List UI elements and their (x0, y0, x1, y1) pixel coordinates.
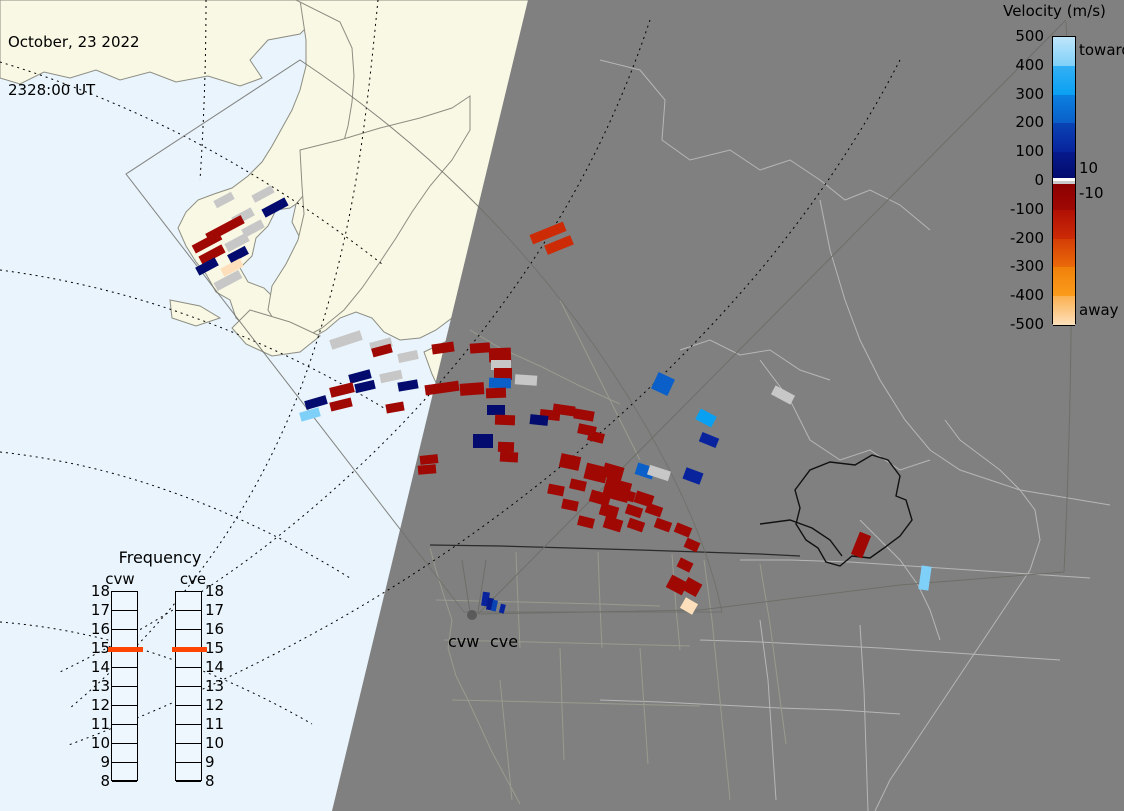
frequency-tick-10: 10 (91, 734, 110, 752)
colorbar-tick-100: 100 (1015, 142, 1044, 160)
colorbar-tick--200: -200 (1010, 229, 1044, 247)
frequency-segment-9 (112, 744, 137, 763)
station-label-cvw: cvw (448, 632, 479, 651)
colorbar-tick-0: 0 (1034, 171, 1044, 189)
velocity-cell (473, 434, 493, 448)
colorbar-zero-hi-label: 10 (1079, 159, 1098, 177)
colorbar-tick--300: -300 (1010, 257, 1044, 275)
colorbar-away-label: away (1079, 301, 1119, 319)
velocity-cell (487, 405, 505, 415)
colorbar-band-1 (1053, 66, 1075, 96)
frequency-segment-11 (112, 706, 137, 725)
colorbar-band-10 (1053, 296, 1075, 326)
colorbar-band-9 (1053, 267, 1075, 297)
colorbar-band-6 (1053, 184, 1075, 211)
frequency-tick-17: 17 (91, 601, 110, 619)
colorbar-gradient[interactable] (1052, 36, 1076, 324)
velocity-cell (495, 415, 515, 426)
colorbar-side-labels: toward10-10away (1079, 0, 1124, 340)
frequency-tick-16: 16 (91, 620, 110, 638)
colorbar-tick-500: 500 (1015, 27, 1044, 45)
frequency-tick-11: 11 (205, 715, 224, 733)
colorbar-tick-labels: 5004003002001000-100-200-300-400-500 (975, 0, 1048, 340)
velocity-colorbar-panel: Velocity (m/s) 5004003002001000-100-200-… (975, 0, 1124, 340)
colorbar-band-8 (1053, 239, 1075, 269)
frequency-tick-14: 14 (205, 658, 224, 676)
frequency-bar-cve[interactable] (175, 591, 202, 781)
colorbar-tick-400: 400 (1015, 56, 1044, 74)
timestamp-title: October, 23 2022 2328:00 UT (8, 2, 140, 130)
frequency-marker-cvw (108, 647, 143, 652)
frequency-segment-8 (176, 763, 201, 782)
frequency-tick-11: 11 (91, 715, 110, 733)
frequency-tick-18: 18 (91, 582, 110, 600)
frequency-tick-12: 12 (205, 696, 224, 714)
frequency-bar-cvw[interactable] (111, 591, 138, 781)
colorbar-tick--400: -400 (1010, 286, 1044, 304)
frequency-segment-10 (112, 725, 137, 744)
velocity-cell (420, 454, 439, 465)
frequency-tick-14: 14 (91, 658, 110, 676)
colorbar-tick--100: -100 (1010, 200, 1044, 218)
frequency-segment-12 (112, 687, 137, 706)
frequency-segment-16 (176, 611, 201, 630)
frequency-segment-12 (176, 687, 201, 706)
frequency-tick-9: 9 (100, 753, 110, 771)
colorbar-tick--500: -500 (1010, 315, 1044, 333)
velocity-cell (486, 388, 506, 399)
velocity-cell (498, 442, 514, 453)
frequency-ticks-right: 18171615141312111098 (205, 591, 231, 783)
frequency-legend-panel: Frequency cvw 18171615141312111098 cve 1… (85, 548, 235, 798)
frequency-tick-13: 13 (205, 677, 224, 695)
frequency-title: Frequency (85, 548, 235, 567)
frequency-ticks-left: 18171615141312111098 (84, 591, 110, 783)
colorbar-zero-lo-label: -10 (1079, 184, 1104, 202)
velocity-cell (460, 382, 485, 396)
colorbar-tick-300: 300 (1015, 85, 1044, 103)
frequency-segment-10 (176, 725, 201, 744)
frequency-segment-11 (176, 706, 201, 725)
velocity-cell (530, 414, 549, 426)
frequency-tick-8: 8 (100, 772, 110, 790)
frequency-column-cve: cve 18171615141312111098 (163, 570, 223, 795)
frequency-segment-9 (176, 744, 201, 763)
frequency-tick-10: 10 (205, 734, 224, 752)
colorbar-band-0 (1053, 37, 1075, 67)
velocity-cell (500, 452, 518, 463)
title-date: October, 23 2022 (8, 34, 140, 50)
frequency-tick-8: 8 (205, 772, 215, 790)
frequency-tick-16: 16 (205, 620, 224, 638)
frequency-segment-17 (176, 592, 201, 611)
colorbar-band-7 (1053, 210, 1075, 240)
title-time: 2328:00 UT (8, 82, 140, 98)
colorbar-tick-200: 200 (1015, 113, 1044, 131)
station-label-cve: cve (490, 632, 518, 651)
frequency-tick-13: 13 (91, 677, 110, 695)
frequency-segment-16 (112, 611, 137, 630)
frequency-segment-13 (112, 668, 137, 687)
velocity-cell (470, 342, 491, 353)
frequency-column-cvw: cvw 18171615141312111098 (90, 570, 150, 795)
frequency-segment-17 (112, 592, 137, 611)
frequency-tick-18: 18 (205, 582, 224, 600)
colorbar-band-3 (1053, 123, 1075, 153)
colorbar-band-4 (1053, 152, 1075, 179)
superdarn-fan-plot: cvw cve October, 23 2022 2328:00 UT Velo… (0, 0, 1124, 811)
velocity-cell (418, 464, 437, 475)
frequency-tick-9: 9 (205, 753, 215, 771)
frequency-segment-8 (112, 763, 137, 782)
colorbar-band-2 (1053, 95, 1075, 125)
frequency-tick-12: 12 (91, 696, 110, 714)
ground-scatter-cell (515, 374, 538, 386)
frequency-marker-cve (172, 647, 207, 652)
frequency-tick-17: 17 (205, 601, 224, 619)
colorbar-toward-label: toward (1079, 41, 1124, 59)
frequency-segment-13 (176, 668, 201, 687)
frequency-tick-15: 15 (205, 639, 224, 657)
velocity-cell (489, 378, 511, 389)
radar-site-dot (467, 610, 477, 620)
